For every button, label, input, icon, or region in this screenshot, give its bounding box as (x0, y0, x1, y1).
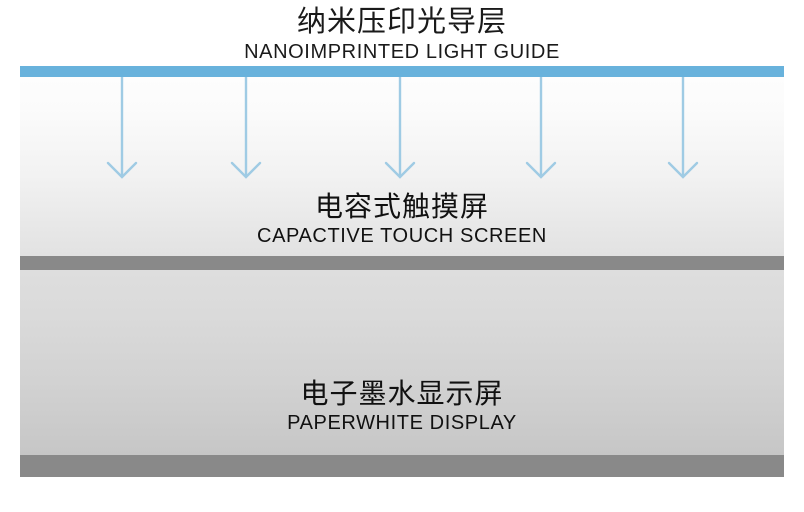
layer-label-touch-screen-en: CAPACTIVE TOUCH SCREEN (20, 224, 784, 249)
layer-touch-separator-bar (20, 256, 784, 270)
layer-light-guide (20, 66, 784, 77)
layer-display-base-bar (20, 455, 784, 477)
layer-label-touch-screen: 电容式触摸屏 CAPACTIVE TOUCH SCREEN (20, 189, 784, 249)
layer-label-paperwhite-display: 电子墨水显示屏 PAPERWHITE DISPLAY (20, 376, 784, 436)
diagram-title: 纳米压印光导层 NANOIMPRINTED LIGHT GUIDE (0, 4, 804, 64)
layer-label-touch-screen-cn: 电容式触摸屏 (20, 189, 784, 224)
diagram-title-cn: 纳米压印光导层 (0, 4, 804, 40)
layer-label-paperwhite-display-en: PAPERWHITE DISPLAY (20, 411, 784, 436)
layer-label-paperwhite-display-cn: 电子墨水显示屏 (20, 376, 784, 411)
layer-stack: 电容式触摸屏 CAPACTIVE TOUCH SCREEN 电子墨水显示屏 PA… (20, 66, 784, 478)
display-stack-diagram: 纳米压印光导层 NANOIMPRINTED LIGHT GUIDE (0, 0, 804, 512)
diagram-title-en: NANOIMPRINTED LIGHT GUIDE (0, 40, 804, 64)
